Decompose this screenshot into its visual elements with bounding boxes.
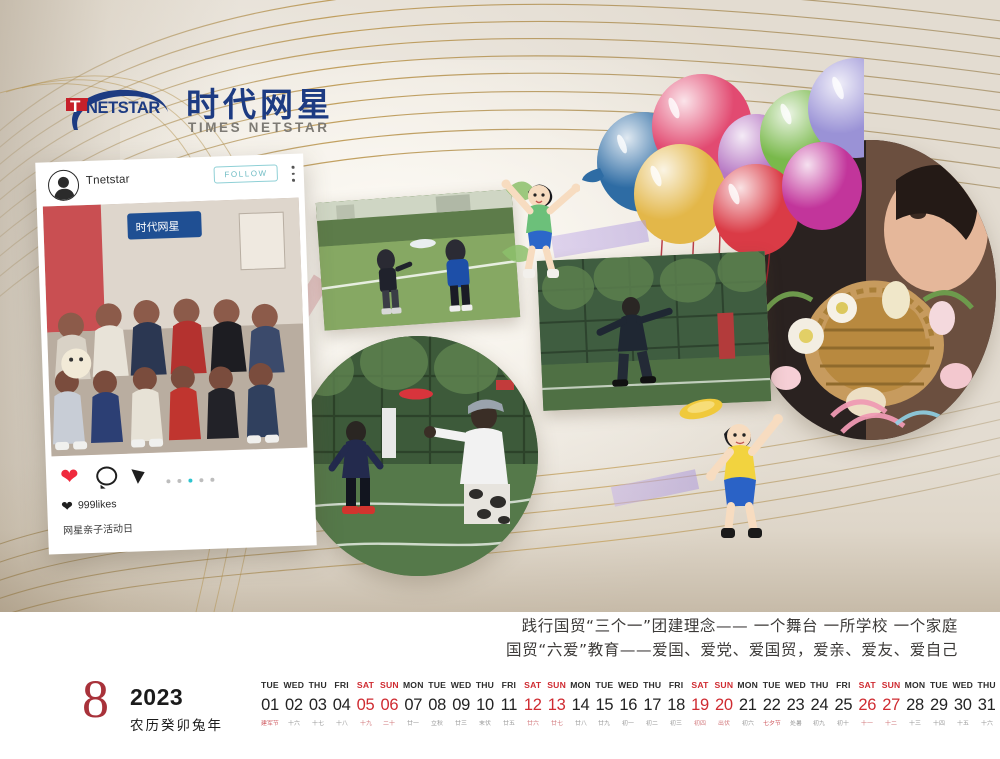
calendar-day-number: 10 [473, 693, 497, 718]
calendar-lunar-label: 十九 [354, 718, 377, 730]
calendar-lunar-label: 十一 [856, 718, 879, 730]
calendar-weekday-label: TUE [760, 680, 784, 693]
calendar-day-number: 16 [616, 693, 640, 718]
logo-name-cn: 时代网星 [186, 78, 334, 126]
calendar-month-brand: 8 2023 农历癸卯兔年 [82, 678, 262, 740]
post-footer: ❤ ❤999likes 网星亲子活动日 [46, 447, 317, 548]
calendar-day-number: 14 [569, 693, 593, 718]
calendar-day-number: 13 [545, 693, 569, 718]
calendar-lunar-label: 十六 [975, 718, 998, 730]
calendar-weekday-label: WED [616, 680, 640, 693]
likes-count: ❤999likes [61, 496, 117, 515]
calendar-day-number: 09 [449, 693, 473, 718]
calendar-weekday-label: TUE [258, 680, 282, 693]
calendar-lunar-label: 十八 [330, 718, 353, 730]
calendar-day-02[interactable]: WED02十六 [282, 680, 306, 730]
calendar-lunar-label: 廿七 [545, 718, 568, 730]
calendar-day-29[interactable]: TUE29十四 [927, 680, 951, 730]
calendar-day-number: 17 [640, 693, 664, 718]
calendar-day-number: 18 [664, 693, 688, 718]
calendar-weekday-label: TUE [927, 680, 951, 693]
illustration-girl-jumping [498, 160, 580, 290]
calendar-weekday-label: MON [903, 680, 927, 693]
calendar-day-number: 04 [330, 693, 354, 718]
post-action-icons: ❤ [60, 463, 159, 488]
calendar-day-13[interactable]: SUN13廿七 [545, 680, 569, 730]
calendar-day-number: 20 [712, 693, 736, 718]
tnetstar-logo-mark: T NETSTAR [64, 82, 174, 140]
calendar-lunar-label: 二十 [378, 718, 401, 730]
svg-text:时代网星: 时代网星 [135, 220, 179, 235]
svg-text:NETSTAR: NETSTAR [86, 99, 160, 117]
calendar-year: 2023 [130, 684, 183, 711]
calendar-day-number: 08 [425, 693, 449, 718]
calendar-lunar-label: 廿九 [593, 718, 616, 730]
calendar-weekday-label: TUE [592, 680, 616, 693]
calendar-day-number: 29 [927, 693, 951, 718]
calendar-day-21[interactable]: MON21初六 [736, 680, 760, 730]
calendar-weekday-label: WED [449, 680, 473, 693]
calendar-day-number: 24 [807, 693, 831, 718]
svg-text:T: T [70, 97, 81, 116]
hero-panel: T NETSTAR 时代网星 TIMES NETSTAR [0, 0, 1000, 612]
calendar-day-11[interactable]: FRI11廿五 [497, 680, 521, 730]
calendar-day-number: 21 [736, 693, 760, 718]
calendar-day-14[interactable]: MON14廿八 [569, 680, 593, 730]
slogan-line-1: 践行国贸“三个一”团建理念—— 一个舞台 一所学校 一个家庭 [506, 614, 958, 638]
frisbee-disc-yellow [678, 398, 724, 420]
calendar-weekday-label: FRI [497, 680, 521, 693]
calendar-day-number: 23 [784, 693, 808, 718]
calendar-weekday-label: TUE [425, 680, 449, 693]
calendar-weekday-label: SUN [545, 680, 569, 693]
calendar-day-05[interactable]: SAT05十九 [354, 680, 378, 730]
calendar-day-31[interactable]: THU31十六 [975, 680, 999, 730]
photo-frisbee-court-circle [298, 336, 538, 576]
calendar-day-12[interactable]: SAT12廿六 [521, 680, 545, 730]
more-vertical-icon[interactable] [292, 166, 297, 184]
calendar-lunar-year: 农历癸卯兔年 [130, 714, 223, 734]
post-photo-group-portrait: 时代网星 [43, 198, 308, 457]
calendar-lunar-label: 廿六 [521, 718, 544, 730]
calendar-lunar-label: 建军节 [258, 718, 281, 730]
calendar-lunar-label: 初九 [808, 718, 831, 730]
comment-bubble-icon[interactable] [96, 466, 118, 486]
calendar-day-30[interactable]: WED30十五 [951, 680, 975, 730]
calendar-weekday-label: THU [975, 680, 999, 693]
calendar-poster-page: T NETSTAR 时代网星 TIMES NETSTAR [0, 0, 1000, 759]
calendar-day-number: 28 [903, 693, 927, 718]
calendar-day-25[interactable]: FRI25初十 [831, 680, 855, 730]
calendar-day-number: 01 [258, 693, 282, 718]
calendar-day-number: 31 [975, 693, 999, 718]
calendar-lunar-label: 初四 [689, 718, 712, 730]
calendar-lunar-label: 廿五 [497, 718, 520, 730]
heart-icon[interactable]: ❤ [60, 465, 79, 488]
photo-frisbee-boys [316, 189, 520, 330]
calendar-day-20[interactable]: SUN20出伏 [712, 680, 736, 730]
calendar-weekday-label: THU [807, 680, 831, 693]
calendar-weekday-label: WED [784, 680, 808, 693]
calendar-day-26[interactable]: SAT26十一 [855, 680, 879, 730]
calendar-weekday-label: MON [736, 680, 760, 693]
calendar-lunar-label: 立秋 [426, 718, 449, 730]
calendar-weekday-label: SAT [521, 680, 545, 693]
calendar-lunar-label: 初一 [617, 718, 640, 730]
calendar-lunar-label: 十四 [927, 718, 950, 730]
user-avatar-icon [48, 169, 80, 201]
calendar-lunar-label: 十六 [282, 718, 305, 730]
calendar-day-04[interactable]: FRI04十八 [330, 680, 354, 730]
calendar-day-number: 22 [760, 693, 784, 718]
calendar-strip: 8 2023 农历癸卯兔年 TUE01建军节WED02十六THU03十七FRI0… [0, 676, 1000, 759]
calendar-lunar-label: 初二 [641, 718, 664, 730]
calendar-lunar-label: 初六 [736, 718, 759, 730]
calendar-day-number: 19 [688, 693, 712, 718]
calendar-weekday-label: FRI [330, 680, 354, 693]
calendar-day-22[interactable]: TUE22七夕节 [760, 680, 784, 730]
calendar-day-number: 26 [855, 693, 879, 718]
calendar-day-10[interactable]: THU10末伏 [473, 680, 497, 730]
calendar-days-grid: TUE01建军节WED02十六THU03十七FRI04十八SAT05十九SUN0… [258, 680, 999, 730]
calendar-day-23[interactable]: WED23处暑 [784, 680, 808, 730]
calendar-day-27[interactable]: SUN27十二 [879, 680, 903, 730]
calendar-weekday-label: FRI [664, 680, 688, 693]
calendar-day-01[interactable]: TUE01建军节 [258, 680, 282, 730]
calendar-weekday-label: WED [951, 680, 975, 693]
calendar-lunar-label: 出伏 [712, 718, 735, 730]
calendar-lunar-label: 十三 [904, 718, 927, 730]
post-caption: 网星亲子活动日 [63, 520, 133, 537]
paper-plane-icon[interactable] [132, 465, 149, 484]
calendar-day-number: 12 [521, 693, 545, 718]
calendar-weekday-label: THU [640, 680, 664, 693]
calendar-day-number: 11 [497, 693, 521, 718]
calendar-day-08[interactable]: TUE08立秋 [425, 680, 449, 730]
follow-button[interactable]: FOLLOW [213, 164, 278, 183]
calendar-weekday-label: SUN [377, 680, 401, 693]
carousel-dots[interactable] [166, 468, 222, 488]
calendar-weekday-label: SUN [712, 680, 736, 693]
calendar-lunar-label: 廿三 [450, 718, 473, 730]
calendar-day-28[interactable]: MON28十三 [903, 680, 927, 730]
calendar-lunar-label: 十五 [951, 718, 974, 730]
calendar-lunar-label: 处暑 [784, 718, 807, 730]
heart-filled-icon: ❤ [61, 498, 73, 515]
calendar-day-number: 02 [282, 693, 306, 718]
calendar-lunar-label: 十二 [880, 718, 903, 730]
calendar-day-number: 05 [354, 693, 378, 718]
calendar-day-07[interactable]: MON07廿一 [401, 680, 425, 730]
calendar-weekday-label: SUN [879, 680, 903, 693]
calendar-day-number: 15 [592, 693, 616, 718]
calendar-day-15[interactable]: TUE15廿九 [592, 680, 616, 730]
instagram-post-card[interactable]: Tnetstar FOLLOW 时代网星 [35, 153, 317, 554]
calendar-weekday-label: SAT [855, 680, 879, 693]
calendar-day-24[interactable]: THU24初九 [807, 680, 831, 730]
calendar-day-16[interactable]: WED16初一 [616, 680, 640, 730]
calendar-day-09[interactable]: WED09廿三 [449, 680, 473, 730]
calendar-lunar-label: 初十 [832, 718, 855, 730]
company-logo: T NETSTAR 时代网星 TIMES NETSTAR [64, 72, 364, 152]
calendar-day-number: 06 [377, 693, 401, 718]
calendar-day-number: 07 [401, 693, 425, 718]
slogan-block: 践行国贸“三个一”团建理念—— 一个舞台 一所学校 一个家庭 国贸“六爱”教育—… [506, 614, 958, 662]
calendar-lunar-label: 十七 [306, 718, 329, 730]
calendar-day-number: 25 [831, 693, 855, 718]
calendar-day-03[interactable]: THU03十七 [306, 680, 330, 730]
calendar-weekday-label: MON [401, 680, 425, 693]
calendar-day-number: 27 [879, 693, 903, 718]
calendar-day-number: 30 [951, 693, 975, 718]
calendar-day-18[interactable]: FRI18初三 [664, 680, 688, 730]
calendar-lunar-label: 初三 [665, 718, 688, 730]
calendar-lunar-label: 廿八 [569, 718, 592, 730]
calendar-day-19[interactable]: SAT19初四 [688, 680, 712, 730]
calendar-weekday-label: MON [569, 680, 593, 693]
logo-name-en: TIMES NETSTAR [188, 120, 330, 135]
calendar-day-06[interactable]: SUN06二十 [377, 680, 401, 730]
calendar-weekday-label: SAT [354, 680, 378, 693]
calendar-weekday-label: THU [473, 680, 497, 693]
calendar-weekday-label: SAT [688, 680, 712, 693]
calendar-lunar-label: 七夕节 [760, 718, 783, 730]
calendar-weekday-label: THU [306, 680, 330, 693]
calendar-month-number: 8 [82, 672, 109, 726]
post-username[interactable]: Tnetstar [86, 174, 130, 188]
calendar-lunar-label: 廿一 [402, 718, 425, 730]
calendar-weekday-label: WED [282, 680, 306, 693]
slogan-line-2: 国贸“六爱”教育——爱国、爱党、爱国贸，爱亲、爱友、爱自己 [506, 638, 958, 662]
calendar-day-17[interactable]: THU17初二 [640, 680, 664, 730]
calendar-weekday-label: FRI [831, 680, 855, 693]
calendar-day-number: 03 [306, 693, 330, 718]
calendar-lunar-label: 末伏 [473, 718, 496, 730]
